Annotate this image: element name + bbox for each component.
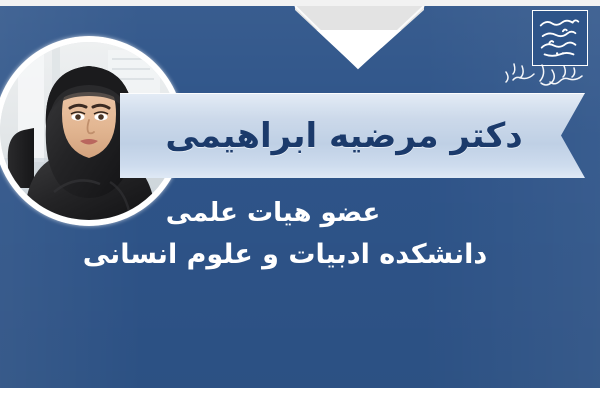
- subtitle-line-1: عضو هیات علمی: [0, 196, 546, 231]
- subtitle-line-2: دانشکده ادبیات و علوم انسانی: [0, 237, 570, 273]
- subtitle-block: عضو هیات علمی دانشکده ادبیات و علوم انسا…: [0, 196, 600, 274]
- bottom-background-strip: [0, 388, 600, 400]
- public-relations-wordmark: [502, 60, 586, 90]
- university-logo: [502, 8, 590, 92]
- university-emblem-icon: [532, 10, 588, 66]
- page-title: دکتر مرضیه ابراهیمی: [120, 93, 560, 178]
- faculty-announcement-card: دکتر مرضیه ابراهیمی عضو هیات علمی دانشکد…: [0, 0, 600, 400]
